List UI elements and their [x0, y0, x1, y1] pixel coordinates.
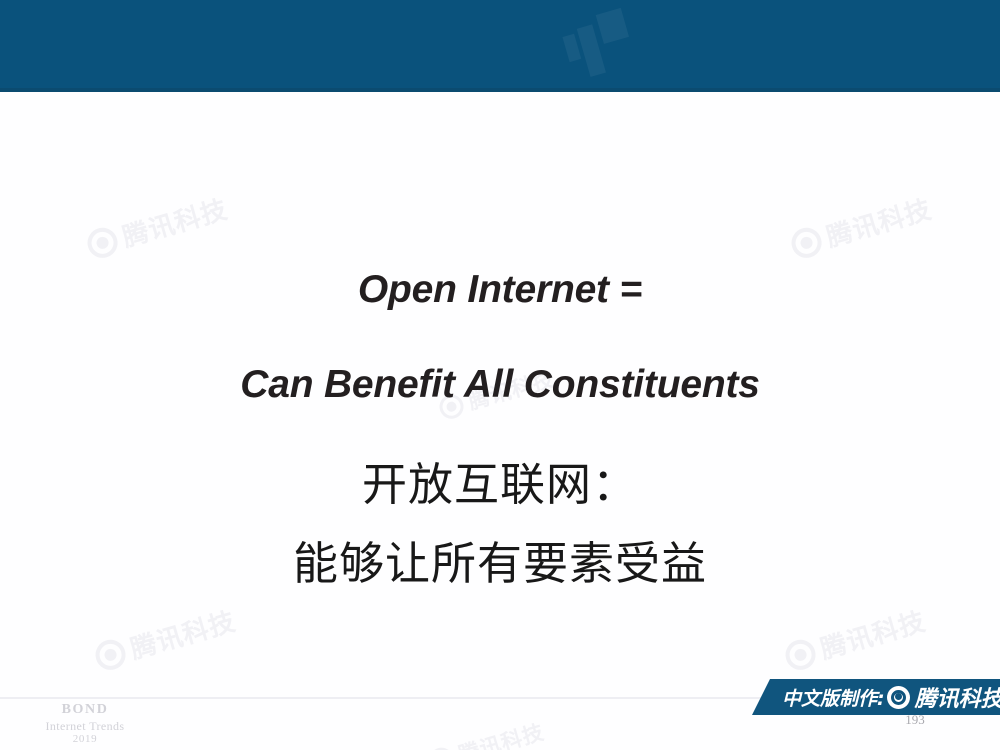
- watermark-tile: 腾讯科技: [787, 189, 936, 264]
- top-banner-edge: [0, 88, 1000, 92]
- bond-logo-name: BOND: [20, 702, 150, 719]
- title-chinese-line-1: 开放互联网：: [0, 462, 1000, 507]
- tencent-logo-icon: [887, 686, 910, 709]
- watermark-tile: 腾讯科技: [781, 601, 930, 676]
- watermark-tile: 腾讯科技: [91, 601, 240, 676]
- watermark-tile: 腾讯科技: [426, 716, 548, 750]
- watermark-label: 腾讯科技: [118, 189, 232, 254]
- tencent-brand-name: 腾讯科技: [915, 681, 1000, 713]
- bond-logo-subtitle: Internet Trends: [20, 719, 150, 733]
- watermark-label: 腾讯科技: [816, 601, 930, 666]
- watermark-label: 腾讯科技: [455, 716, 548, 750]
- watermark-label: 腾讯科技: [126, 601, 240, 666]
- tencent-watermark-logo-icon: [92, 636, 129, 673]
- tencent-watermark-logo-icon: [788, 224, 825, 261]
- tencent-watermark-logo-icon: [427, 745, 457, 750]
- bond-logo: BOND Internet Trends 2019: [20, 702, 150, 746]
- title-english-line-2: Can Benefit All Constituents: [0, 365, 1000, 404]
- page-number: 193: [880, 712, 950, 728]
- bond-logo-year: 2019: [20, 733, 150, 746]
- top-banner: [0, 0, 1000, 92]
- tencent-watermark-logo-icon: [782, 636, 819, 673]
- watermark-tile: 腾讯科技: [83, 189, 232, 264]
- tencent-watermark-logo-icon: [84, 224, 121, 261]
- tencent-credit-prefix: 中文版制作:: [782, 684, 885, 711]
- title-chinese-line-2: 能够让所有要素受益: [0, 541, 1000, 586]
- slide-title-block: Open Internet = Can Benefit All Constitu…: [0, 270, 1000, 586]
- title-english-line-1: Open Internet =: [0, 270, 1000, 309]
- slide-canvas: 腾讯科技 腾讯科技 腾讯科技 腾讯科技 腾讯科技 腾讯科技 Open Inter…: [0, 0, 1000, 750]
- banner-watermark: [553, 0, 697, 92]
- watermark-label: 腾讯科技: [822, 189, 936, 254]
- tencent-credit-banner: 中文版制作: 腾讯科技: [752, 679, 1000, 715]
